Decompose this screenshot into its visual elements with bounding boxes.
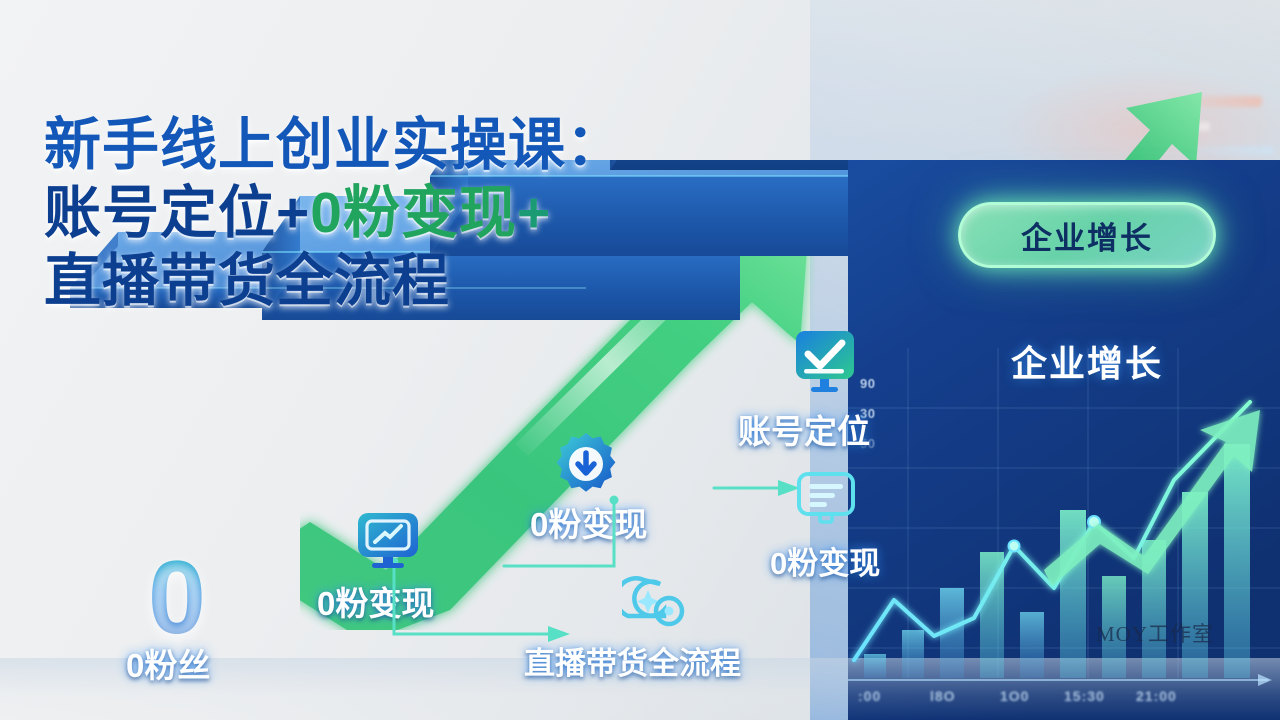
chart-xtick-3: 15:30: [1064, 688, 1105, 704]
title-line-1: 新手线上创业实操课：: [44, 112, 624, 180]
step-label-0粉变现-lvl2: 0粉变现: [317, 577, 434, 625]
pill-badge-企业增长: 企业增长: [958, 202, 1216, 268]
title-line-2: 账号定位+0粉变现+: [44, 180, 624, 248]
poster-canvas: 90 30 50 :00 l8O 1O0 15:30 21:00: [0, 0, 1280, 720]
big-zero-number: 0: [148, 546, 206, 650]
chart-ytick-0: 90: [860, 376, 875, 391]
step-label-0粉变现-lvl3: 0粉变现: [530, 498, 647, 546]
floating-label-企业增长: 企业增长: [1011, 335, 1163, 387]
step-label-账号定位: 账号定位: [738, 405, 870, 453]
floating-label-0粉变现: 0粉变现: [770, 538, 880, 583]
monitor-check-icon: [790, 327, 860, 399]
gear-download-icon: [550, 430, 622, 502]
watermark-text: MOY工作室: [1096, 618, 1214, 648]
floating-label-直播带货全流程: 直播带货全流程: [524, 638, 741, 683]
bg-streak-3: [1154, 146, 1274, 155]
title-part-plus1: +: [276, 181, 310, 245]
chart-xtick-1: l8O: [930, 688, 956, 704]
analytics-chart: 90 30 50 :00 l8O 1O0 15:30 21:00: [848, 348, 1280, 720]
title-line-3: 直播带货全流程: [44, 248, 624, 316]
bg-streak-1: [1166, 96, 1262, 107]
title-part-zerofan: 0粉变现: [310, 181, 517, 245]
title-part-plus2: +: [517, 181, 551, 245]
monitor-growth-icon: [352, 505, 424, 577]
bg-streak-2: [1148, 122, 1210, 131]
chart-xtick-0: :00: [858, 688, 881, 704]
pill-badge-label: 企业增长: [1021, 213, 1153, 258]
document-screen-icon: [793, 468, 859, 534]
chart-xtick-4: 21:00: [1136, 688, 1177, 704]
page-title: 新手线上创业实操课： 账号定位+0粉变现+ 直播带货全流程: [44, 112, 624, 315]
live-camera-icon: [622, 570, 688, 632]
chart-xtick-2: 1O0: [1000, 688, 1029, 704]
title-part-account: 账号定位: [44, 181, 276, 245]
